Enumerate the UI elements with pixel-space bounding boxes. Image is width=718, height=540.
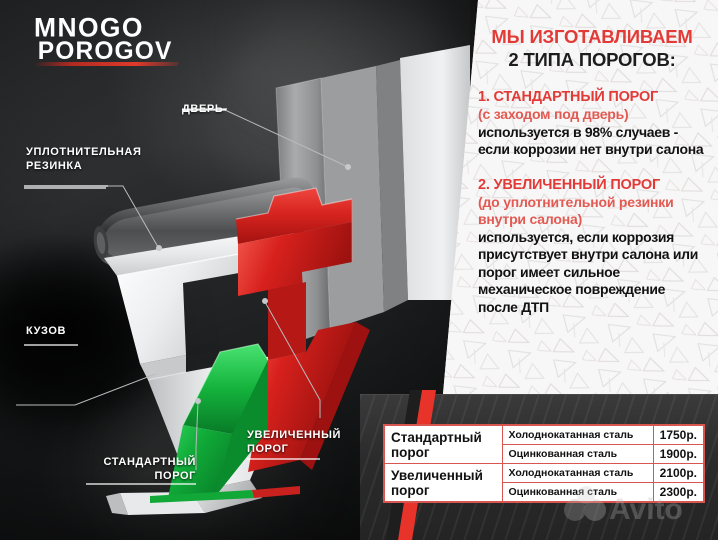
label-body: КУЗОВ bbox=[26, 324, 66, 338]
logo-underline bbox=[35, 62, 179, 66]
row-price-4: 2300р. bbox=[653, 483, 704, 503]
row-price-2: 1900р. bbox=[653, 445, 704, 464]
row-steel-galv-1: Оцинкованная сталь bbox=[502, 445, 653, 464]
label-standard-sill: СТАНДАРТНЫЙ ПОРОГ bbox=[86, 455, 196, 483]
logo-line-2: POROGOV bbox=[38, 38, 173, 65]
row-steel-galv-2: Оцинкованная сталь bbox=[502, 483, 653, 503]
panel-title-primary: МЫ ИЗГОТАВЛИВАЕМ bbox=[460, 26, 706, 48]
type-2-body: используется, если коррозия присутствует… bbox=[478, 229, 706, 317]
advertisement-image: ДВЕРЬ УПЛОТНИТЕЛЬНАЯ РЕЗИНКА КУЗОВ СТАНД… bbox=[0, 0, 718, 540]
panel-title-secondary: 2 ТИПА ПОРОГОВ: bbox=[460, 48, 706, 71]
row-steel-cold-2: Холоднокатанная сталь bbox=[502, 464, 653, 483]
price-table: Стандартный порог Холоднокатанная сталь … bbox=[383, 424, 705, 503]
row-price-1: 1750р. bbox=[653, 425, 704, 445]
label-seal: УПЛОТНИТЕЛЬНАЯ РЕЗИНКА bbox=[26, 145, 141, 173]
table-row: Стандартный порог Холоднокатанная сталь … bbox=[384, 425, 704, 445]
type-block-standard: 1. СТАНДАРТНЫЙ ПОРОГ (с заходом под двер… bbox=[460, 88, 706, 159]
row-type-extended: Увеличенный порог bbox=[384, 464, 502, 503]
row-type-standard: Стандартный порог bbox=[384, 425, 502, 464]
type-1-heading: 1. СТАНДАРТНЫЙ ПОРОГ bbox=[478, 88, 706, 106]
brand-logo: MNOGO POROGOV bbox=[34, 12, 204, 65]
type-1-body: используется в 98% случаев - если корроз… bbox=[478, 124, 706, 159]
type-1-subheading: (с заходом под дверь) bbox=[478, 106, 706, 124]
row-steel-cold-1: Холоднокатанная сталь bbox=[502, 425, 653, 445]
table-row: Увеличенный порог Холоднокатанная сталь … bbox=[384, 464, 704, 483]
type-block-extended: 2. УВЕЛИЧЕННЫЙ ПОРОГ (до уплотнительной … bbox=[460, 176, 706, 317]
label-door: ДВЕРЬ bbox=[182, 102, 223, 116]
type-2-heading: 2. УВЕЛИЧЕННЫЙ ПОРОГ bbox=[478, 176, 706, 194]
label-extended-sill: УВЕЛИЧЕННЫЙ ПОРОГ bbox=[247, 428, 341, 456]
type-2-subheading: (до уплотнительной резинки внутри салона… bbox=[478, 194, 706, 229]
row-price-3: 2100р. bbox=[653, 464, 704, 483]
